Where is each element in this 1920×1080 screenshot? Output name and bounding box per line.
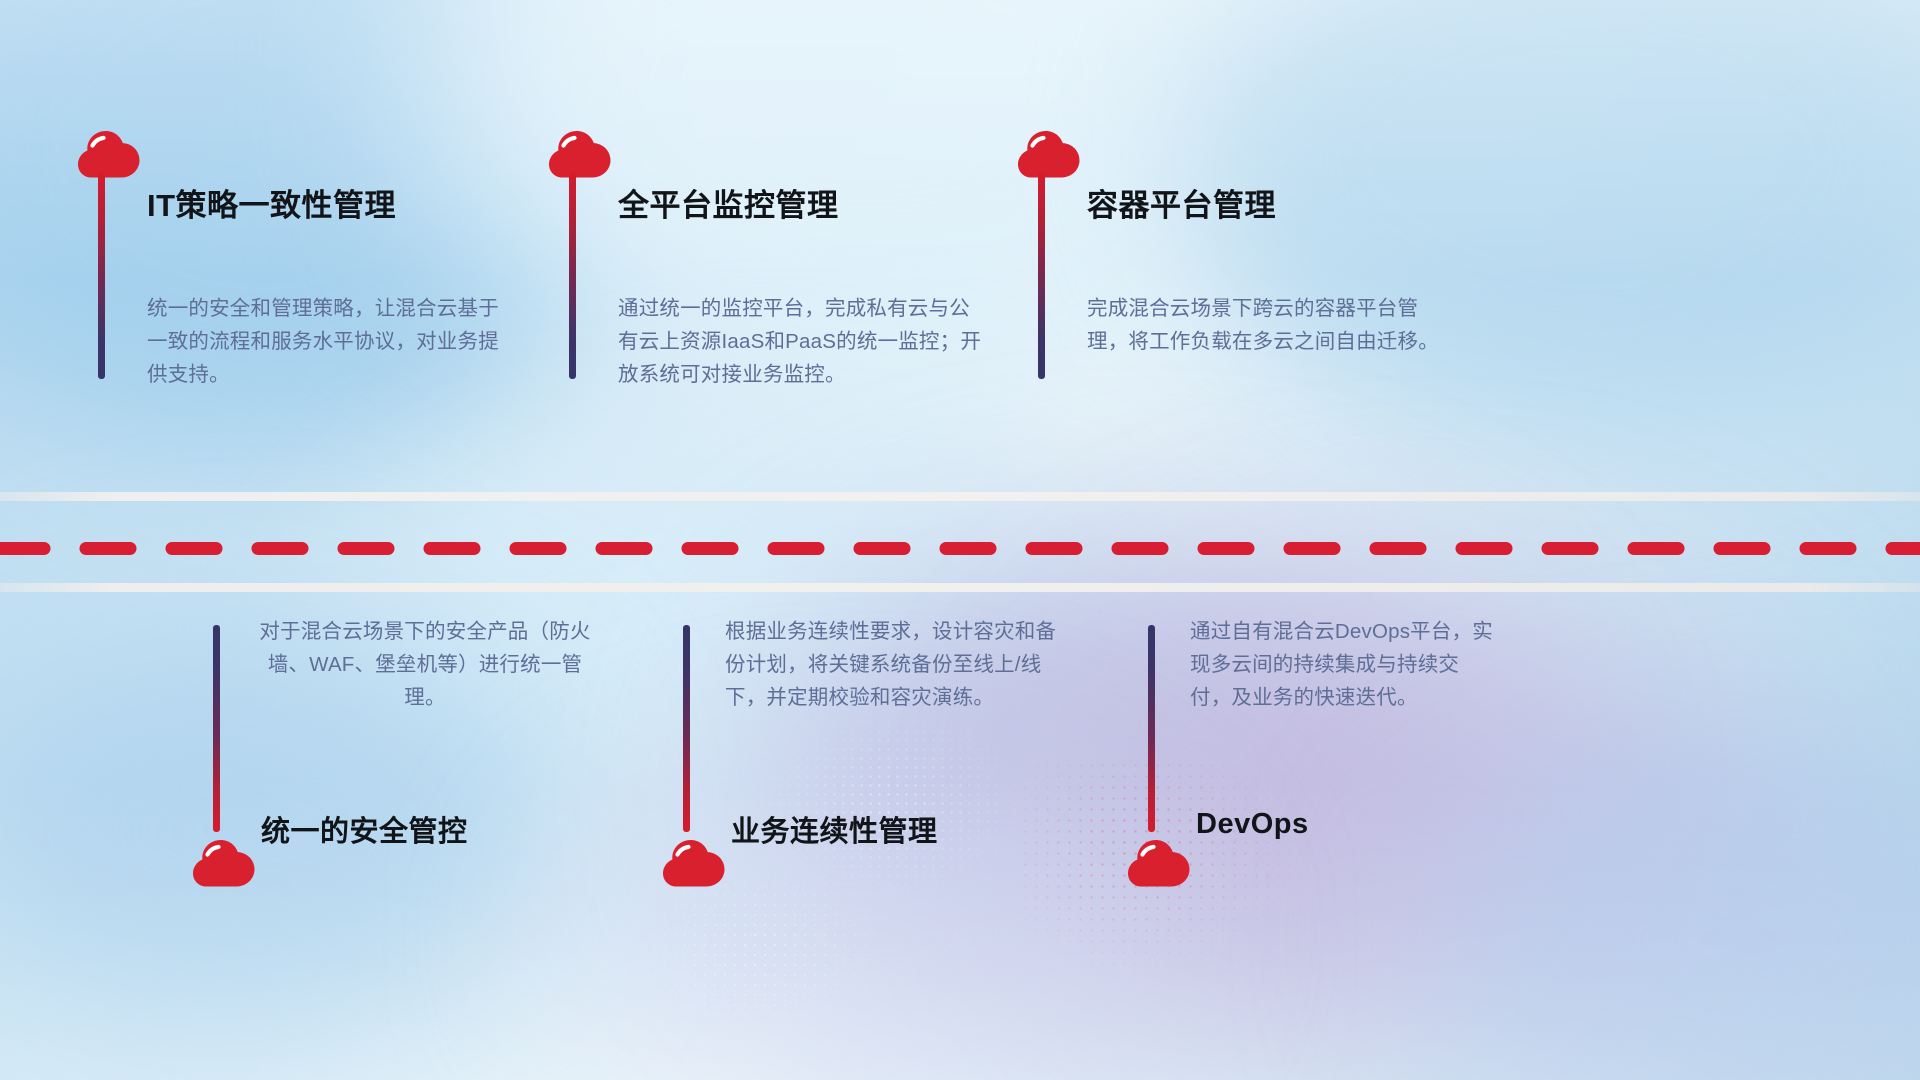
connector-stem: [683, 625, 690, 832]
card-body: 统一的安全和管理策略，让混合云基于一致的流程和服务水平协议，对业务提供支持。: [147, 292, 499, 391]
card-title: DevOps: [1196, 808, 1309, 841]
card-title: IT策略一致性管理: [147, 180, 396, 225]
cloud-icon: [193, 840, 255, 887]
cloud-icon: [1018, 131, 1080, 178]
card-body: 通过统一的监控平台，完成私有云与公有云上资源IaaS和PaaS的统一监控；开放系…: [618, 292, 986, 391]
road-edge-line-bottom: [0, 583, 1920, 592]
card-title: 业务连续性管理: [731, 808, 938, 850]
cloud-icon: [1128, 840, 1190, 887]
cloud-icon: [78, 131, 140, 178]
cloud-icon: [549, 131, 611, 178]
connector-stem: [98, 172, 105, 379]
background-sheen: [0, 0, 1920, 1080]
card-body: 通过自有混合云DevOps平台，实现多云间的持续集成与持续交付，及业务的快速迭代…: [1190, 615, 1500, 714]
card-body: 对于混合云场景下的安全产品（防火墙、WAF、堡垒机等）进行统一管理。: [255, 615, 595, 714]
connector-stem: [213, 625, 220, 832]
connector-stem: [1038, 172, 1045, 379]
road-edge-line-top: [0, 492, 1920, 501]
card-title: 全平台监控管理: [618, 180, 839, 225]
connector-stem: [569, 172, 576, 379]
road-center-dashes: [0, 542, 1920, 555]
card-title: 容器平台管理: [1087, 180, 1276, 225]
infographic-canvas: IT策略一致性管理 统一的安全和管理策略，让混合云基于一致的流程和服务水平协议，…: [0, 0, 1920, 1080]
connector-stem: [1148, 625, 1155, 832]
card-body: 完成混合云场景下跨云的容器平台管理，将工作负载在多云之间自由迁移。: [1087, 292, 1439, 358]
cloud-icon: [663, 840, 725, 887]
card-title: 统一的安全管控: [261, 808, 468, 850]
card-body: 根据业务连续性要求，设计容灾和备份计划，将关键系统备份至线上/线下，并定期校验和…: [725, 615, 1075, 714]
